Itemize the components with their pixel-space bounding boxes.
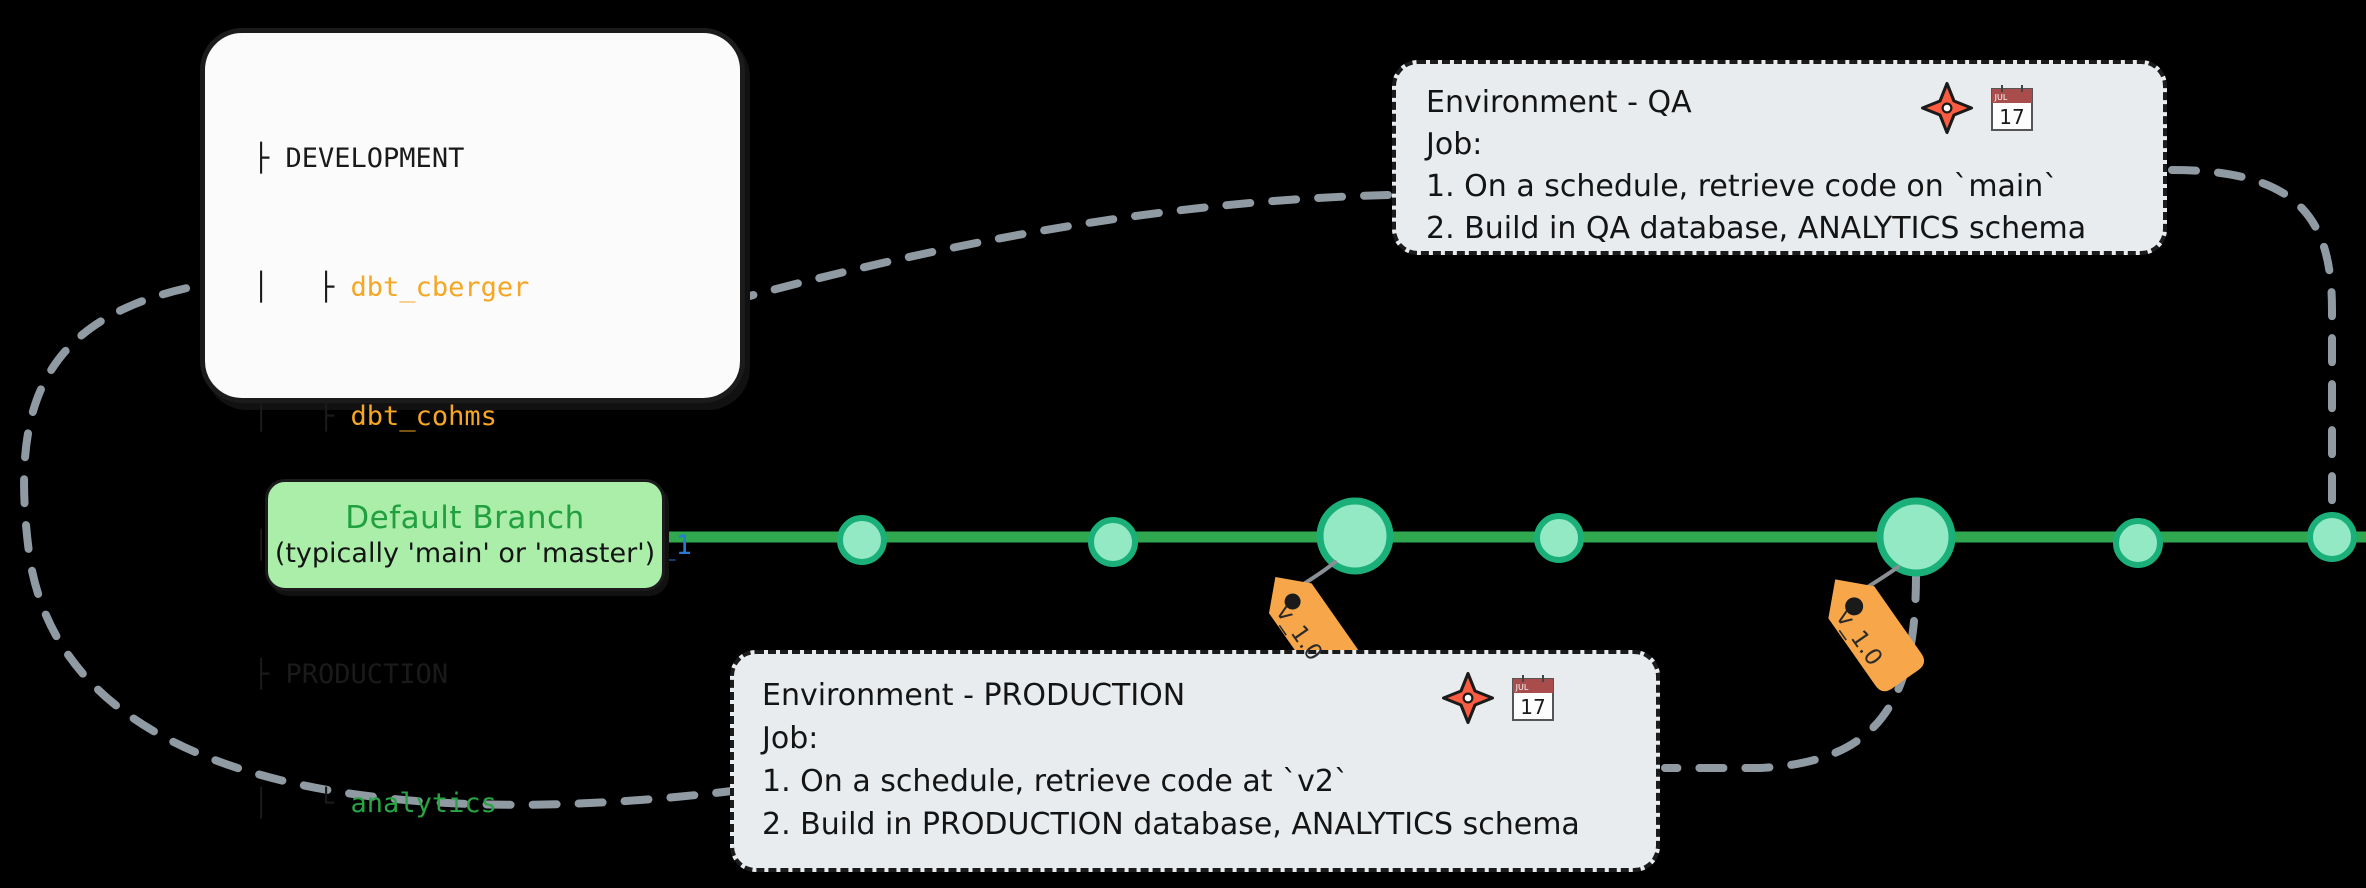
commit-dot[interactable] bbox=[2310, 515, 2354, 559]
environment-tree-list: ├ DEVELOPMENT │ ├ dbt_cberger │ ├ dbt_co… bbox=[253, 51, 692, 888]
commit-dot[interactable] bbox=[840, 518, 884, 562]
env-production-step-2: 2. Build in PRODUCTION database, ANALYTI… bbox=[762, 803, 1580, 846]
env-qa-job-label: Job: bbox=[1426, 124, 2086, 166]
env-qa-step-1: 1. On a schedule, retrieve code on `main… bbox=[1426, 166, 2086, 208]
commit-dot-tagged[interactable] bbox=[1880, 501, 1952, 573]
tree-label-development: DEVELOPMENT bbox=[286, 143, 465, 174]
tree-prefix: │ ├ bbox=[253, 401, 351, 432]
env-qa-step-2: 2. Build in QA database, ANALYTICS schem… bbox=[1426, 208, 2086, 250]
env-production-heading: Environment - PRODUCTION bbox=[762, 674, 1580, 717]
env-production-text: Environment - PRODUCTION Job: 1. On a sc… bbox=[762, 674, 1580, 846]
environment-card-production: JUL 17 Environment - PRODUCTION Job: 1. … bbox=[730, 650, 1660, 872]
tree-row-dbt-cberger[interactable]: │ ├ dbt_cberger bbox=[253, 266, 692, 309]
commit-dot-tagged[interactable] bbox=[1320, 501, 1390, 571]
tree-label-dbt-cberger: dbt_cberger bbox=[351, 272, 530, 303]
tree-row-dbt-cohms[interactable]: │ ├ dbt_cohms bbox=[253, 395, 692, 438]
env-production-step-1: 1. On a schedule, retrieve code at `v2` bbox=[762, 760, 1580, 803]
commit-dot[interactable] bbox=[2116, 521, 2160, 565]
env-qa-text: Environment - QA Job: 1. On a schedule, … bbox=[1426, 82, 2086, 250]
tree-prefix: │ └ bbox=[253, 788, 351, 819]
tree-label-production: PRODUCTION bbox=[286, 659, 449, 690]
tree-prefix: ├ bbox=[253, 143, 286, 174]
tree-row-production[interactable]: ├ PRODUCTION bbox=[253, 653, 692, 696]
tree-label-production-analytics: analytics bbox=[351, 788, 497, 819]
commit-dot[interactable] bbox=[1537, 516, 1581, 560]
tree-prefix: ├ bbox=[253, 659, 286, 690]
environment-card-qa: JUL 17 Environment - QA Job: 1. On a sch… bbox=[1392, 60, 2167, 255]
tree-row-development[interactable]: ├ DEVELOPMENT bbox=[253, 137, 692, 180]
diagram-canvas: ├ DEVELOPMENT │ ├ dbt_cberger │ ├ dbt_co… bbox=[0, 0, 2366, 888]
connector-qa-to-commit bbox=[2172, 170, 2332, 505]
commit-dot[interactable] bbox=[1091, 520, 1135, 564]
default-branch-pill: Default Branch (typically 'main' or 'mas… bbox=[265, 479, 665, 591]
default-branch-title: Default Branch bbox=[345, 499, 584, 537]
tree-row-production-analytics[interactable]: │ └ analytics bbox=[253, 782, 692, 825]
tree-label-dbt-cohms: dbt_cohms bbox=[351, 401, 497, 432]
default-branch-subtitle: (typically 'main' or 'master') bbox=[275, 537, 655, 571]
env-production-job-label: Job: bbox=[762, 717, 1580, 760]
env-qa-heading: Environment - QA bbox=[1426, 82, 2086, 124]
environment-tree-card: ├ DEVELOPMENT │ ├ dbt_cberger │ ├ dbt_co… bbox=[200, 28, 745, 403]
tree-prefix: │ ├ bbox=[253, 272, 351, 303]
